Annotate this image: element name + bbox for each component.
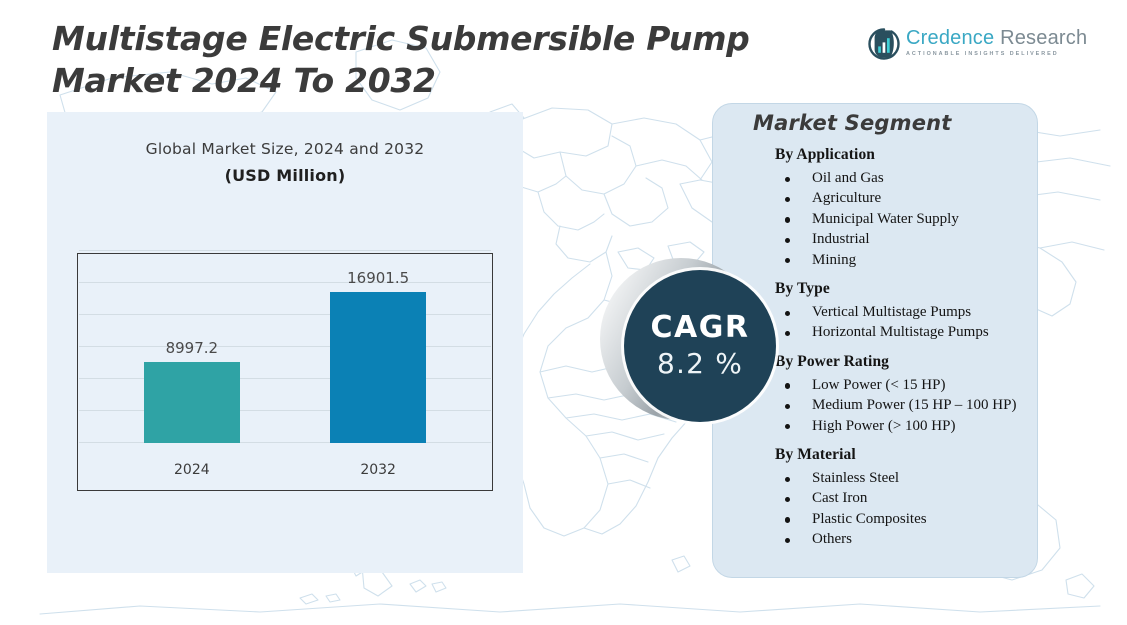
segment-list-item: Cast Iron [775, 488, 1027, 508]
company-logo: Credence Research Actionable Insights De… [868, 26, 1058, 66]
chart-bars: 8997.216901.5 [78, 273, 492, 443]
segment-list-item: Mining [775, 250, 1027, 270]
segment-list-item: Stainless Steel [775, 468, 1027, 488]
segment-group-list: Vertical Multistage PumpsHorizontal Mult… [775, 302, 1027, 343]
segment-list-item: Industrial [775, 229, 1027, 249]
chart-bar-value-label: 16901.5 [347, 269, 409, 287]
cagr-badge: CAGR 8.2 % [600, 258, 786, 444]
segment-group-heading: By Application [775, 146, 1027, 164]
header: Multistage Electric Submersible Pump Mar… [0, 0, 1127, 105]
segment-list-item: Others [775, 529, 1027, 549]
cagr-circle: CAGR 8.2 % [624, 270, 776, 422]
bullet-icon [785, 517, 790, 522]
segment-list-item: Vertical Multistage Pumps [775, 302, 1027, 322]
chart-bar: 8997.2 [144, 362, 240, 443]
chart-gridline [79, 250, 491, 251]
segment-group-list: Low Power (< 15 HP)Medium Power (15 HP –… [775, 375, 1027, 436]
infographic-canvas: Multistage Electric Submersible Pump Mar… [0, 0, 1127, 625]
logo-name-part2: Research [1000, 27, 1087, 49]
logo-wordmark: Credence Research Actionable Insights De… [906, 26, 1061, 57]
chart-category-label: 2032 [360, 462, 396, 478]
bullet-icon [785, 197, 790, 202]
segment-list-item: Municipal Water Supply [775, 209, 1027, 229]
chart-bar-fill [330, 292, 426, 443]
bullet-icon [785, 217, 790, 222]
market-segment-title: Market Segment [753, 111, 952, 135]
segment-group-list: Stainless SteelCast IronPlastic Composit… [775, 468, 1027, 550]
segment-list-item: Plastic Composites [775, 509, 1027, 529]
chart-category-labels: 20242032 [78, 452, 492, 476]
segment-group-heading: By Type [775, 280, 1027, 298]
chart-bar-fill [144, 362, 240, 443]
segment-group-heading: By Material [775, 446, 1027, 464]
bullet-icon [785, 238, 790, 243]
cagr-label: CAGR [651, 311, 750, 345]
segment-list-item: Low Power (< 15 HP) [775, 375, 1027, 395]
logo-name-part1: Credence [906, 27, 994, 49]
chart-bar-value-label: 8997.2 [166, 339, 219, 357]
segment-group-heading: By Power Rating [775, 353, 1027, 371]
segment-list-item: Oil and Gas [775, 168, 1027, 188]
page-title: Multistage Electric Submersible Pump Mar… [52, 18, 862, 102]
segment-list-item: Horizontal Multistage Pumps [775, 322, 1027, 342]
bullet-icon [785, 477, 790, 482]
segment-list-item: Agriculture [775, 188, 1027, 208]
segment-list-item: High Power (> 100 HP) [775, 416, 1027, 436]
chart-subtitle: (USD Million) [47, 166, 523, 185]
cagr-value: 8.2 % [657, 347, 743, 381]
market-size-chart: Global Market Size, 2024 and 2032 (USD M… [47, 112, 523, 573]
chart-category-label: 2024 [174, 462, 210, 478]
logo-name: Credence Research [906, 26, 1061, 50]
bullet-icon [785, 497, 790, 502]
logo-tagline: Actionable Insights Delivered [906, 51, 1061, 57]
market-segment-groups: By ApplicationOil and GasAgricultureMuni… [775, 146, 1027, 550]
bullet-icon [785, 538, 790, 543]
chart-plot-area: 8997.216901.5 20242032 [77, 253, 493, 491]
segment-list-item: Medium Power (15 HP – 100 HP) [775, 395, 1027, 415]
bullet-icon [785, 177, 790, 182]
segment-group-list: Oil and GasAgricultureMunicipal Water Su… [775, 168, 1027, 270]
bar-chart-circle-icon [868, 28, 900, 60]
chart-bar: 16901.5 [330, 292, 426, 443]
chart-title: Global Market Size, 2024 and 2032 [47, 140, 523, 158]
